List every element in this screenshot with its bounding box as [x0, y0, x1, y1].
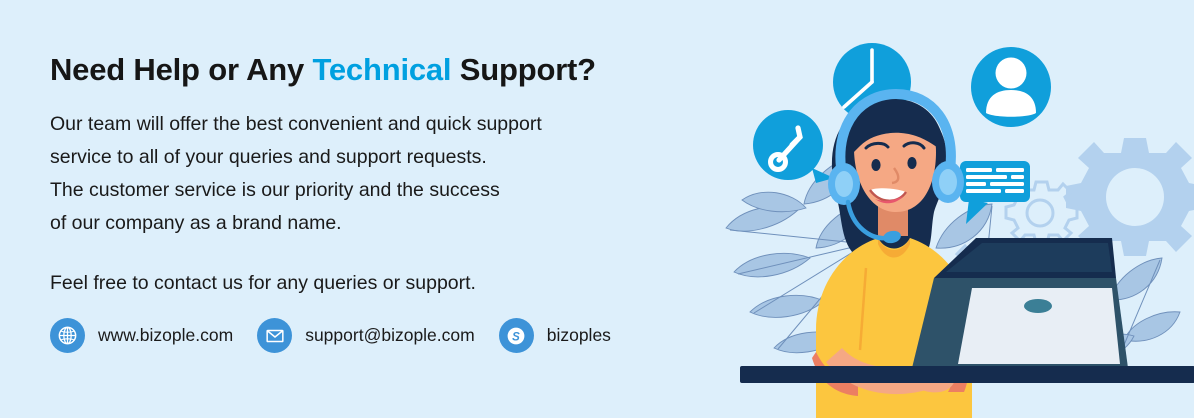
contact-list: www.bizople.com support@bizople.com S bi… — [50, 318, 635, 353]
desk — [740, 366, 1194, 383]
envelope-icon — [257, 318, 292, 353]
paragraph-1-line-3: The customer service is our priority and… — [50, 174, 740, 207]
contact-email-label: support@bizople.com — [305, 325, 475, 346]
svg-text:S: S — [512, 331, 520, 343]
contact-website-label: www.bizople.com — [98, 325, 233, 346]
wrench-speech-bubble-icon — [753, 110, 834, 183]
support-illustration — [720, 0, 1194, 418]
contact-email[interactable]: support@bizople.com — [257, 318, 475, 353]
headline-part-2: Support? — [451, 52, 596, 87]
laptop — [912, 238, 1128, 368]
support-banner: Need Help or Any Technical Support? Our … — [0, 0, 1194, 418]
paragraph-2-line-1: Feel free to contact us for any queries … — [50, 267, 740, 300]
headline-part-1: Need Help or Any — [50, 52, 312, 87]
headline-accent-word: Technical — [312, 52, 451, 87]
chat-bubble-icon — [960, 161, 1030, 224]
page-title: Need Help or Any Technical Support? — [50, 52, 740, 88]
contact-skype-label: bizoples — [547, 325, 611, 346]
globe-icon — [50, 318, 85, 353]
text-content: Need Help or Any Technical Support? Our … — [50, 52, 740, 300]
body-paragraph-2: Feel free to contact us for any queries … — [50, 267, 740, 300]
contact-website[interactable]: www.bizople.com — [50, 318, 233, 353]
skype-icon: S — [499, 318, 534, 353]
user-avatar-icon — [971, 47, 1051, 127]
paragraph-1-line-4: of our company as a brand name. — [50, 207, 740, 240]
contact-skype[interactable]: S bizoples — [499, 318, 611, 353]
paragraph-1-line-1: Our team will offer the best convenient … — [50, 108, 740, 141]
paragraph-1-line-2: service to all of your queries and suppo… — [50, 141, 740, 174]
body-paragraph-1: Our team will offer the best convenient … — [50, 108, 740, 240]
